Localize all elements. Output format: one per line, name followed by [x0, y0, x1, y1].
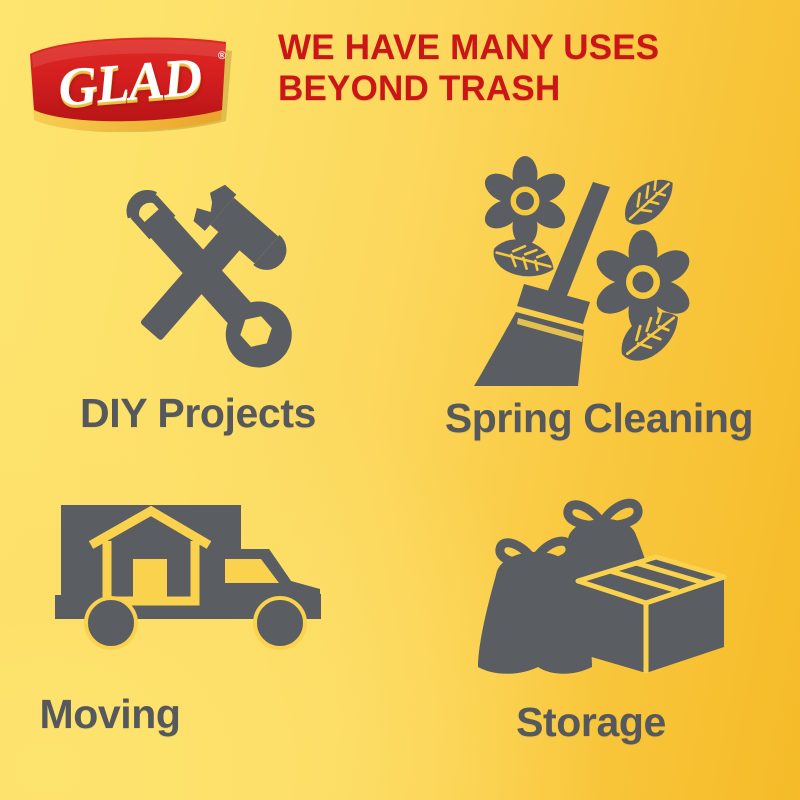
tile-spring-cleaning: Spring Cleaning: [400, 150, 800, 475]
logo-banner-shape: [22, 28, 236, 132]
broom-flowers-leaves-icon: [450, 154, 750, 394]
house-door: [133, 559, 167, 601]
leaf-icon-2: [615, 172, 683, 232]
uses-grid: DIY Projects: [0, 150, 800, 800]
page-title: WE HAVE MANY USES BEYOND TRASH: [278, 28, 778, 109]
tile-label-spring-cleaning: Spring Cleaning: [445, 398, 753, 439]
trash-bags-box-icon: [460, 477, 740, 692]
moving-truck-house-icon: [55, 497, 345, 672]
tile-diy-projects: DIY Projects: [0, 150, 400, 475]
tile-moving: Moving: [0, 475, 400, 800]
tile-storage: Storage: [400, 475, 800, 800]
flower-icon-1: [480, 156, 570, 246]
headline-line-1: WE HAVE MANY USES: [278, 28, 778, 69]
tile-label-moving: Moving: [39, 694, 180, 735]
cardboard-box-icon: [578, 557, 724, 673]
headline-line-2: BEYOND TRASH: [278, 69, 778, 110]
tile-label-diy-projects: DIY Projects: [80, 393, 316, 434]
header: GLAD ® WE HAVE MANY USES BEYOND TRASH: [0, 0, 800, 150]
hammer-wrench-icon: [75, 168, 325, 383]
glad-logo: GLAD ®: [22, 28, 236, 132]
poster-canvas: GLAD ® WE HAVE MANY USES BEYOND TRASH: [0, 0, 800, 800]
tile-label-storage: Storage: [516, 702, 666, 743]
registered-trademark-icon: ®: [217, 50, 226, 63]
